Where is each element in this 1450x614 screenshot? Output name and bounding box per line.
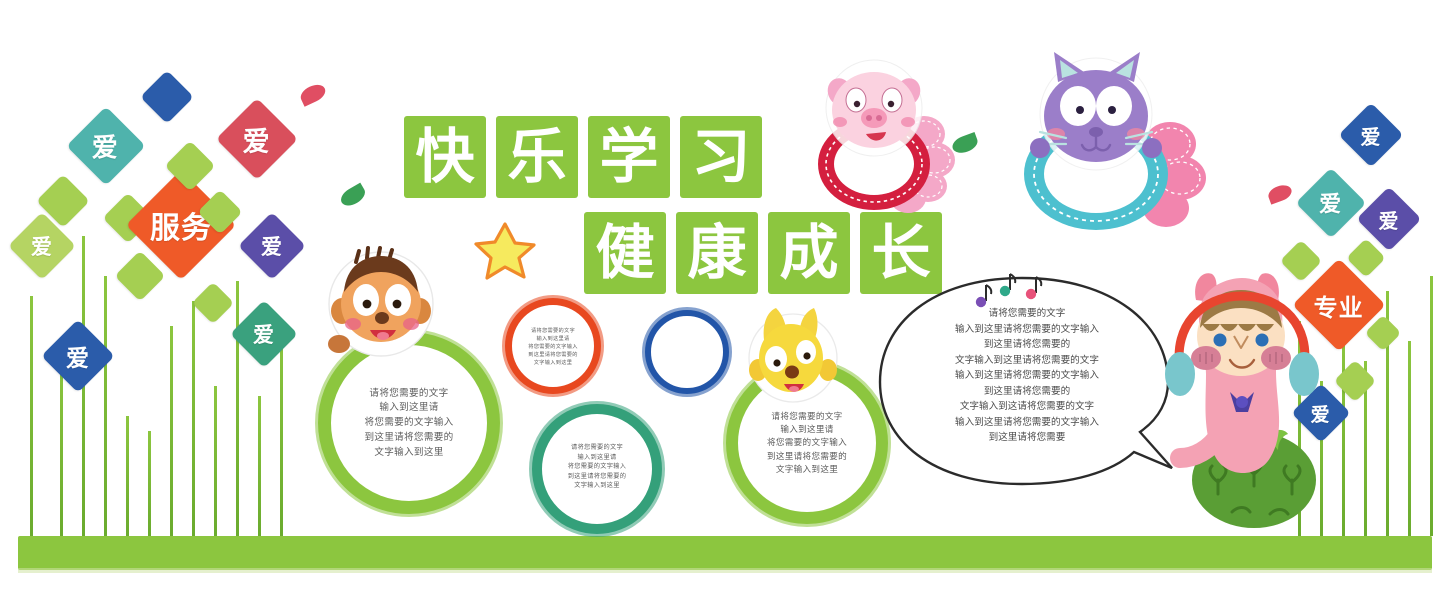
plant-stem [170,326,173,536]
music-note [996,272,1018,298]
fox-character [744,306,842,402]
bubble-text-line: 文字输入到这请将您需要的文字 [898,399,1156,415]
diamond-ai-teal: 爱 [66,106,145,185]
title-tile: 成 [768,212,850,294]
plant-stem [258,396,261,536]
ring-ring-blue [645,310,729,394]
pig-character-card [812,56,958,216]
plant-stem [1342,336,1345,536]
diamond-plain-green-6 [192,282,234,324]
diamond-label: 爱 [1361,121,1382,150]
title-char: 乐 [507,127,566,186]
plant-stem [280,331,283,536]
plant-stem [1408,341,1411,536]
plant-stem [30,296,33,536]
title-char: 康 [687,223,746,282]
diamond-label: 爱 [253,319,275,349]
ring-ring-green-left-text: 请将您需要的文字输入到这里请将您需要的文字输入到这里请将您需要的文字输入到这里 [335,387,483,461]
title-tile: 快 [404,116,486,198]
bubble-text-line: 输入到这里请将您需要的文字输入 [898,322,1156,338]
monkey-character [322,248,440,354]
plant-stem [126,416,129,536]
title-tile: 乐 [496,116,578,198]
title-tile: 习 [680,116,762,198]
diamond-label: 爱 [1319,187,1342,219]
title-line-1: 快乐学习 [404,116,762,198]
title-char: 健 [595,223,654,282]
petal-pink-2 [1266,182,1294,204]
diamond-label: 爱 [243,120,271,159]
bubble-text-line: 文字输入到这里请将您需要的文字 [898,353,1156,369]
title-tile: 康 [676,212,758,294]
diamond-label: 爱 [261,231,283,261]
music-note [1022,275,1044,301]
diamond-ai-blue-top: 爱 [1338,102,1403,167]
diamond-ai-teal-right: 爱 [1296,168,1367,239]
star-decoration [474,222,536,280]
plant-stem [104,276,107,536]
plant-stem [60,361,63,536]
plant-stem [1430,276,1433,536]
diamond-ai-red: 爱 [216,98,298,180]
title-tile: 学 [588,116,670,198]
music-note [972,283,994,309]
diamond-ai-purple: 爱 [238,212,306,280]
title-char: 习 [691,127,750,186]
ring-ring-green-right-text: 请将您需要的文字输入到这里请将您需要的文字输入到这里请将您需要的文字输入到这里 [742,411,872,478]
bubble-text-line: 输入到这里请将您需要的文字输入 [898,368,1156,384]
diamond-label: 爱 [31,231,53,261]
ring-ring-teal-text: 请将您需要的文字输入到这里请将您需要的文字输入到这里请将您需要的文字输入到这里 [546,443,648,491]
diamond-label: 爱 [66,339,90,373]
bubble-text-line: 到这里请将您需要的 [898,337,1156,353]
plant-stem [236,281,239,536]
poster-canvas: 爱爱爱服务爱爱爱 爱爱爱专业爱 快乐学习 健康成长 请将您需要的文字输入到这里请… [0,0,1450,614]
title-char: 成 [779,223,838,282]
grass-bar [18,536,1432,570]
diamond-plain-blue [140,70,194,124]
petal-pink-1 [298,81,328,106]
plant-stem [148,431,151,536]
diamond-ai-green: 爱 [230,300,298,368]
cat-character-card [1010,52,1210,242]
plant-stem [214,386,217,536]
title-char: 学 [599,127,658,186]
bubble-text-line: 到这里请将您需要的 [898,384,1156,400]
bubble-text-line: 请将您需要的文字 [898,306,1156,322]
title-tile: 健 [584,212,666,294]
kid-with-headphones [1150,262,1340,534]
plant-stem [192,301,195,536]
speech-bubble-text: 请将您需要的文字输入到这里请将您需要的文字输入到这里请将您需要的文字输入到这里请… [898,306,1156,446]
title-char: 快 [415,127,474,186]
diamond-plain-green-4 [115,251,166,302]
diamond-label: 爱 [92,127,119,164]
bubble-text-line: 到这里请将您需要 [898,430,1156,446]
bubble-text-line: 输入到这里请将您需要的文字输入 [898,415,1156,431]
diamond-label: 爱 [1379,205,1400,234]
ring-ring-orange-text: 请将您需要的文字输入到这里请将您需要的文字输入到这里请将您需要的文字输入到这里 [516,327,590,367]
petal-green-1 [338,183,369,210]
grass-bar-shadow [18,568,1432,573]
diamond-plain-green-r4 [1334,360,1376,402]
